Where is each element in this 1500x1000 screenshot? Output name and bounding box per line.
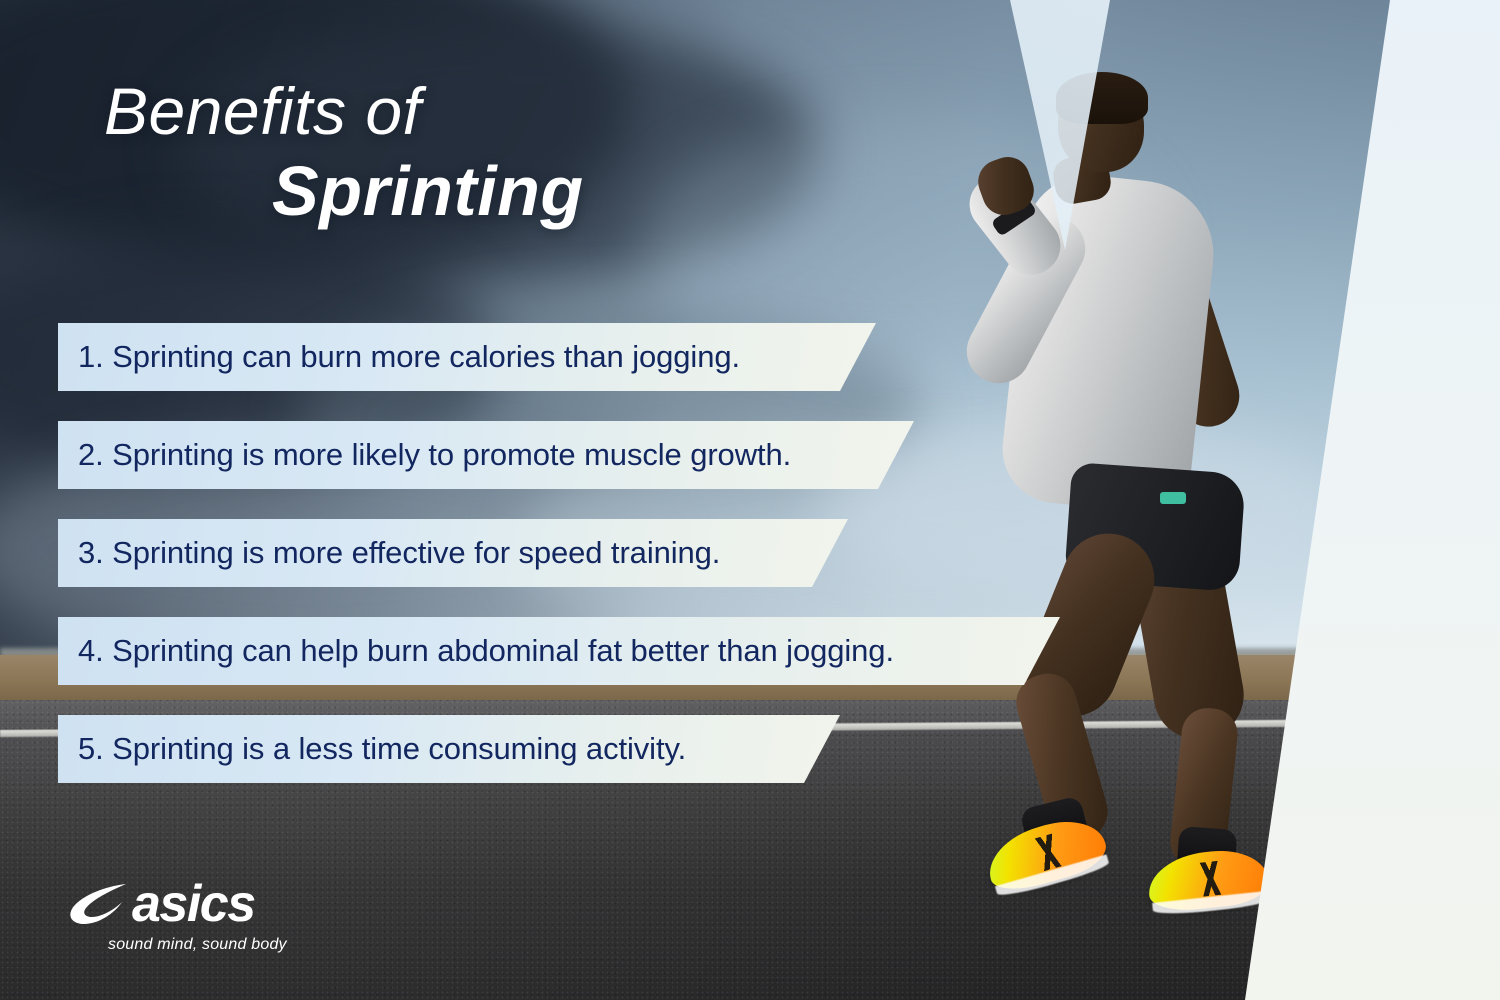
list-item: 4. Sprinting can help burn abdominal fat… [58, 617, 1060, 685]
benefit-text: 3. Sprinting is more effective for speed… [58, 535, 720, 571]
hair [1056, 72, 1148, 124]
benefit-text: 4. Sprinting can help burn abdominal fat… [58, 633, 894, 669]
asics-stripe-icon [1180, 859, 1243, 899]
brand-tagline: sound mind, sound body [108, 936, 287, 954]
benefit-text: 2. Sprinting is more likely to promote m… [58, 437, 791, 473]
running-shoe-back [1145, 846, 1270, 914]
brand-logo: asics sound mind, sound body [68, 878, 287, 954]
brand-name: asics [132, 878, 255, 930]
logo-row: asics [68, 878, 287, 930]
list-item: 5. Sprinting is a less time consuming ac… [58, 715, 840, 783]
shorts-accent [1160, 492, 1186, 504]
list-item: 1. Sprinting can burn more calories than… [58, 323, 876, 391]
benefit-text: 5. Sprinting is a less time consuming ac… [58, 731, 686, 767]
infographic-poster: Benefits of Sprinting 1. Sprinting can b… [0, 0, 1500, 1000]
asics-spiral-icon [68, 882, 130, 926]
page-title: Benefits of Sprinting [104, 78, 584, 226]
benefits-list: 1. Sprinting can burn more calories than… [58, 323, 1060, 813]
list-item: 2. Sprinting is more likely to promote m… [58, 421, 914, 489]
title-line-1: Benefits of [104, 78, 584, 144]
benefit-text: 1. Sprinting can burn more calories than… [58, 339, 740, 375]
title-line-2: Sprinting [272, 156, 584, 226]
list-item: 3. Sprinting is more effective for speed… [58, 519, 848, 587]
